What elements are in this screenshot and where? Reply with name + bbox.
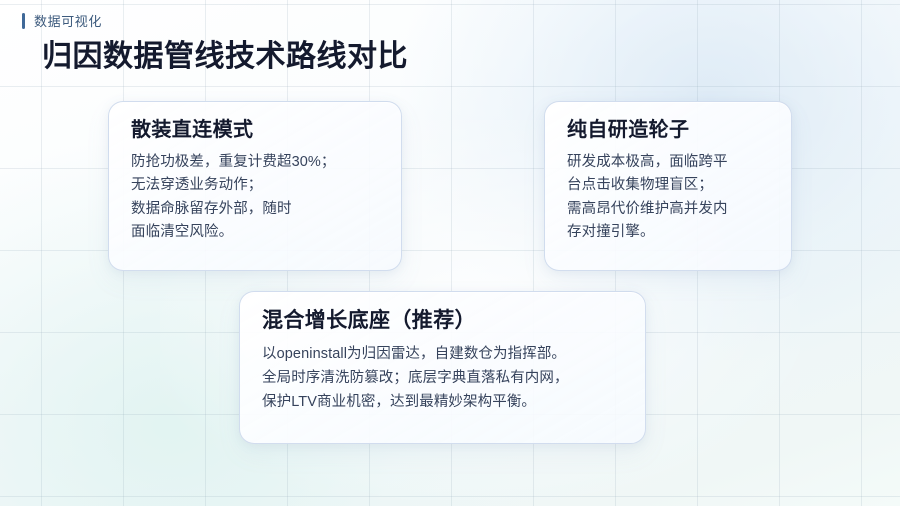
eyebrow-accent-bar <box>22 13 25 29</box>
card-body-line: 存对撞引擎。 <box>567 221 771 244</box>
slide-canvas: 数据可视化 归因数据管线技术路线对比 散装直连模式 防抢功极差，重复计费超30%… <box>0 0 900 506</box>
card-body-line: 防抢功极差，重复计费超30%； <box>131 151 381 174</box>
card-body-line: 台点击收集物理盲区； <box>567 174 771 197</box>
card-body-line: 数据命脉留存外部，随时 <box>131 198 381 221</box>
card-body-line: 全局时序清洗防篡改；底层字典直落私有内网， <box>262 366 625 390</box>
card-body-line: 面临清空风险。 <box>131 221 381 244</box>
card-title: 纯自研造轮子 <box>567 118 771 142</box>
card-body-line: 需高昂代价维护高并发内 <box>567 198 771 221</box>
card-body: 以openinstall为归因雷达，自建数仓为指挥部。 全局时序清洗防篡改；底层… <box>262 342 625 414</box>
page-title: 归因数据管线技术路线对比 <box>42 38 408 76</box>
card-scattered-direct-mode: 散装直连模式 防抢功极差，重复计费超30%； 无法穿透业务动作； 数据命脉留存外… <box>108 101 402 271</box>
eyebrow-label: 数据可视化 <box>34 15 102 28</box>
card-body-line: 研发成本极高，面临跨平 <box>567 151 771 174</box>
card-pure-in-house-build: 纯自研造轮子 研发成本极高，面临跨平 台点击收集物理盲区； 需高昂代价维护高并发… <box>544 101 792 271</box>
card-body: 防抢功极差，重复计费超30%； 无法穿透业务动作； 数据命脉留存外部，随时 面临… <box>131 151 381 245</box>
card-body-line: 以openinstall为归因雷达，自建数仓为指挥部。 <box>262 342 625 366</box>
card-title: 混合增长底座（推荐） <box>262 308 625 333</box>
card-body: 研发成本极高，面临跨平 台点击收集物理盲区； 需高昂代价维护高并发内 存对撞引擎… <box>567 151 771 245</box>
card-body-line: 无法穿透业务动作； <box>131 174 381 197</box>
card-title: 散装直连模式 <box>131 118 381 142</box>
card-body-line: 保护LTV商业机密，达到最精妙架构平衡。 <box>262 390 625 414</box>
eyebrow: 数据可视化 <box>22 10 102 32</box>
card-hybrid-growth-base: 混合增长底座（推荐） 以openinstall为归因雷达，自建数仓为指挥部。 全… <box>239 291 646 444</box>
